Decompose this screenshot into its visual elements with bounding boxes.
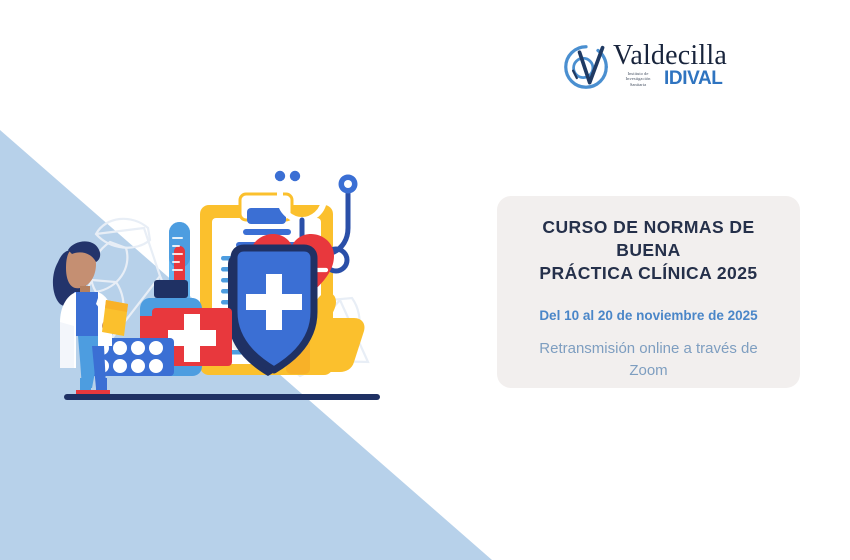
poster-canvas: Valdecilla Instituto de Investigación Sa… (0, 0, 850, 560)
logo-wordmark: Valdecilla (613, 42, 727, 70)
course-dates: Del 10 al 20 de noviembre de 2025 (510, 307, 788, 325)
medical-healthcare-illustration (40, 150, 400, 400)
logo-institute-line-3: Sanitaria (615, 82, 661, 87)
course-delivery-mode-line-1: Retransmisión online a través de (539, 340, 757, 357)
course-info-card: CURSO DE NORMAS DE BUENA PRÁCTICA CLÍNIC… (497, 196, 800, 388)
ground-line (64, 394, 380, 400)
course-title: CURSO DE NORMAS DE BUENA PRÁCTICA CLÍNIC… (510, 216, 788, 285)
course-title-line-2: PRÁCTICA CLÍNICA 2025 (539, 263, 757, 283)
logo-idival-acronym: IDIVAL (664, 69, 722, 88)
logo-institute-text: Instituto de Investigación Sanitaria (615, 71, 661, 87)
valdecilla-idival-logo[interactable]: Valdecilla Instituto de Investigación Sa… (563, 38, 738, 98)
valdecilla-v-monogram-icon (563, 44, 609, 90)
course-delivery-mode-line-2: Zoom (629, 362, 667, 379)
course-title-line-1: CURSO DE NORMAS DE BUENA (542, 217, 754, 260)
course-delivery-mode: Retransmisión online a través de Zoom (513, 338, 785, 382)
